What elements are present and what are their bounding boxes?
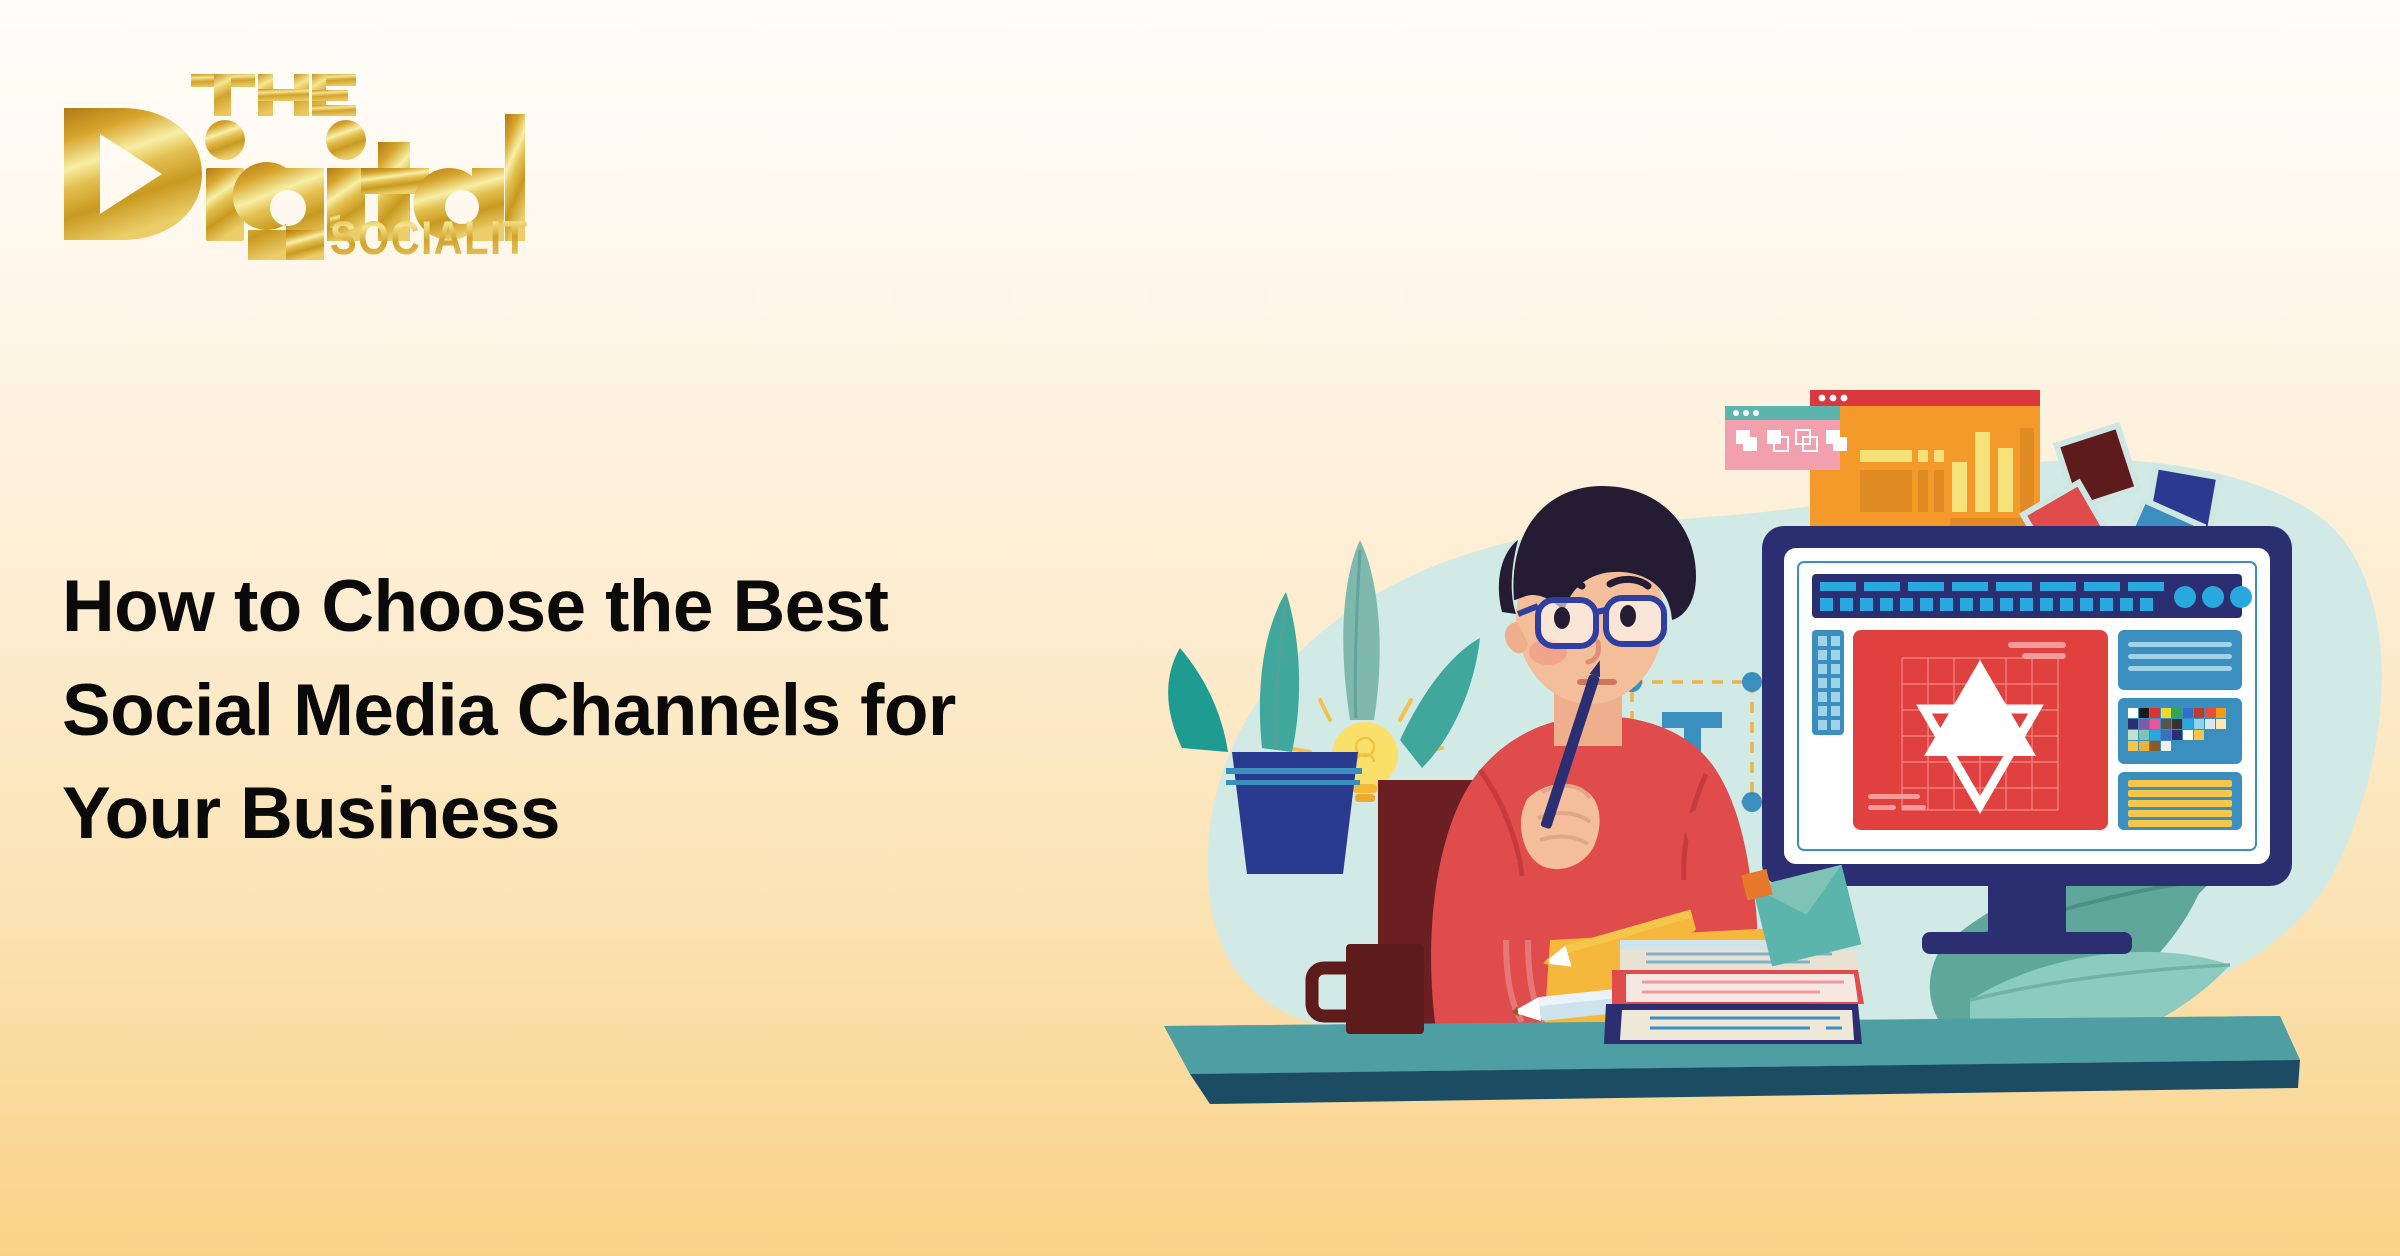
- monitor-base: [1922, 932, 2132, 954]
- logo-word-socialite: SOCIALITE: [330, 212, 528, 260]
- logo-word-the: [191, 74, 356, 116]
- logo-letter-d: [64, 108, 202, 240]
- svg-text:SOCIALITE: SOCIALITE: [330, 212, 528, 260]
- headline-line-1: How to Choose the Best: [62, 555, 1222, 659]
- hero-illustration-svg: [1150, 300, 2400, 1150]
- hero-illustration: [1150, 300, 2400, 1150]
- eyeglasses-icon: [1518, 598, 1664, 646]
- brand-logo-svg: SOCIALITE: [58, 70, 528, 260]
- book-item: [1604, 1004, 1862, 1044]
- brand-logo[interactable]: SOCIALITE: [58, 70, 528, 260]
- headline-line-3: Your Business: [62, 762, 1222, 866]
- book-stack: [1604, 940, 1864, 1044]
- book-item: [1612, 970, 1864, 1004]
- monitor-stand: [1988, 886, 2066, 938]
- headline-line-2: Social Media Channels for: [62, 659, 1222, 763]
- page-title: How to Choose the Best Social Media Chan…: [62, 555, 1222, 866]
- floating-layers-window: [1725, 406, 1847, 470]
- properties-panel: [2118, 630, 2242, 690]
